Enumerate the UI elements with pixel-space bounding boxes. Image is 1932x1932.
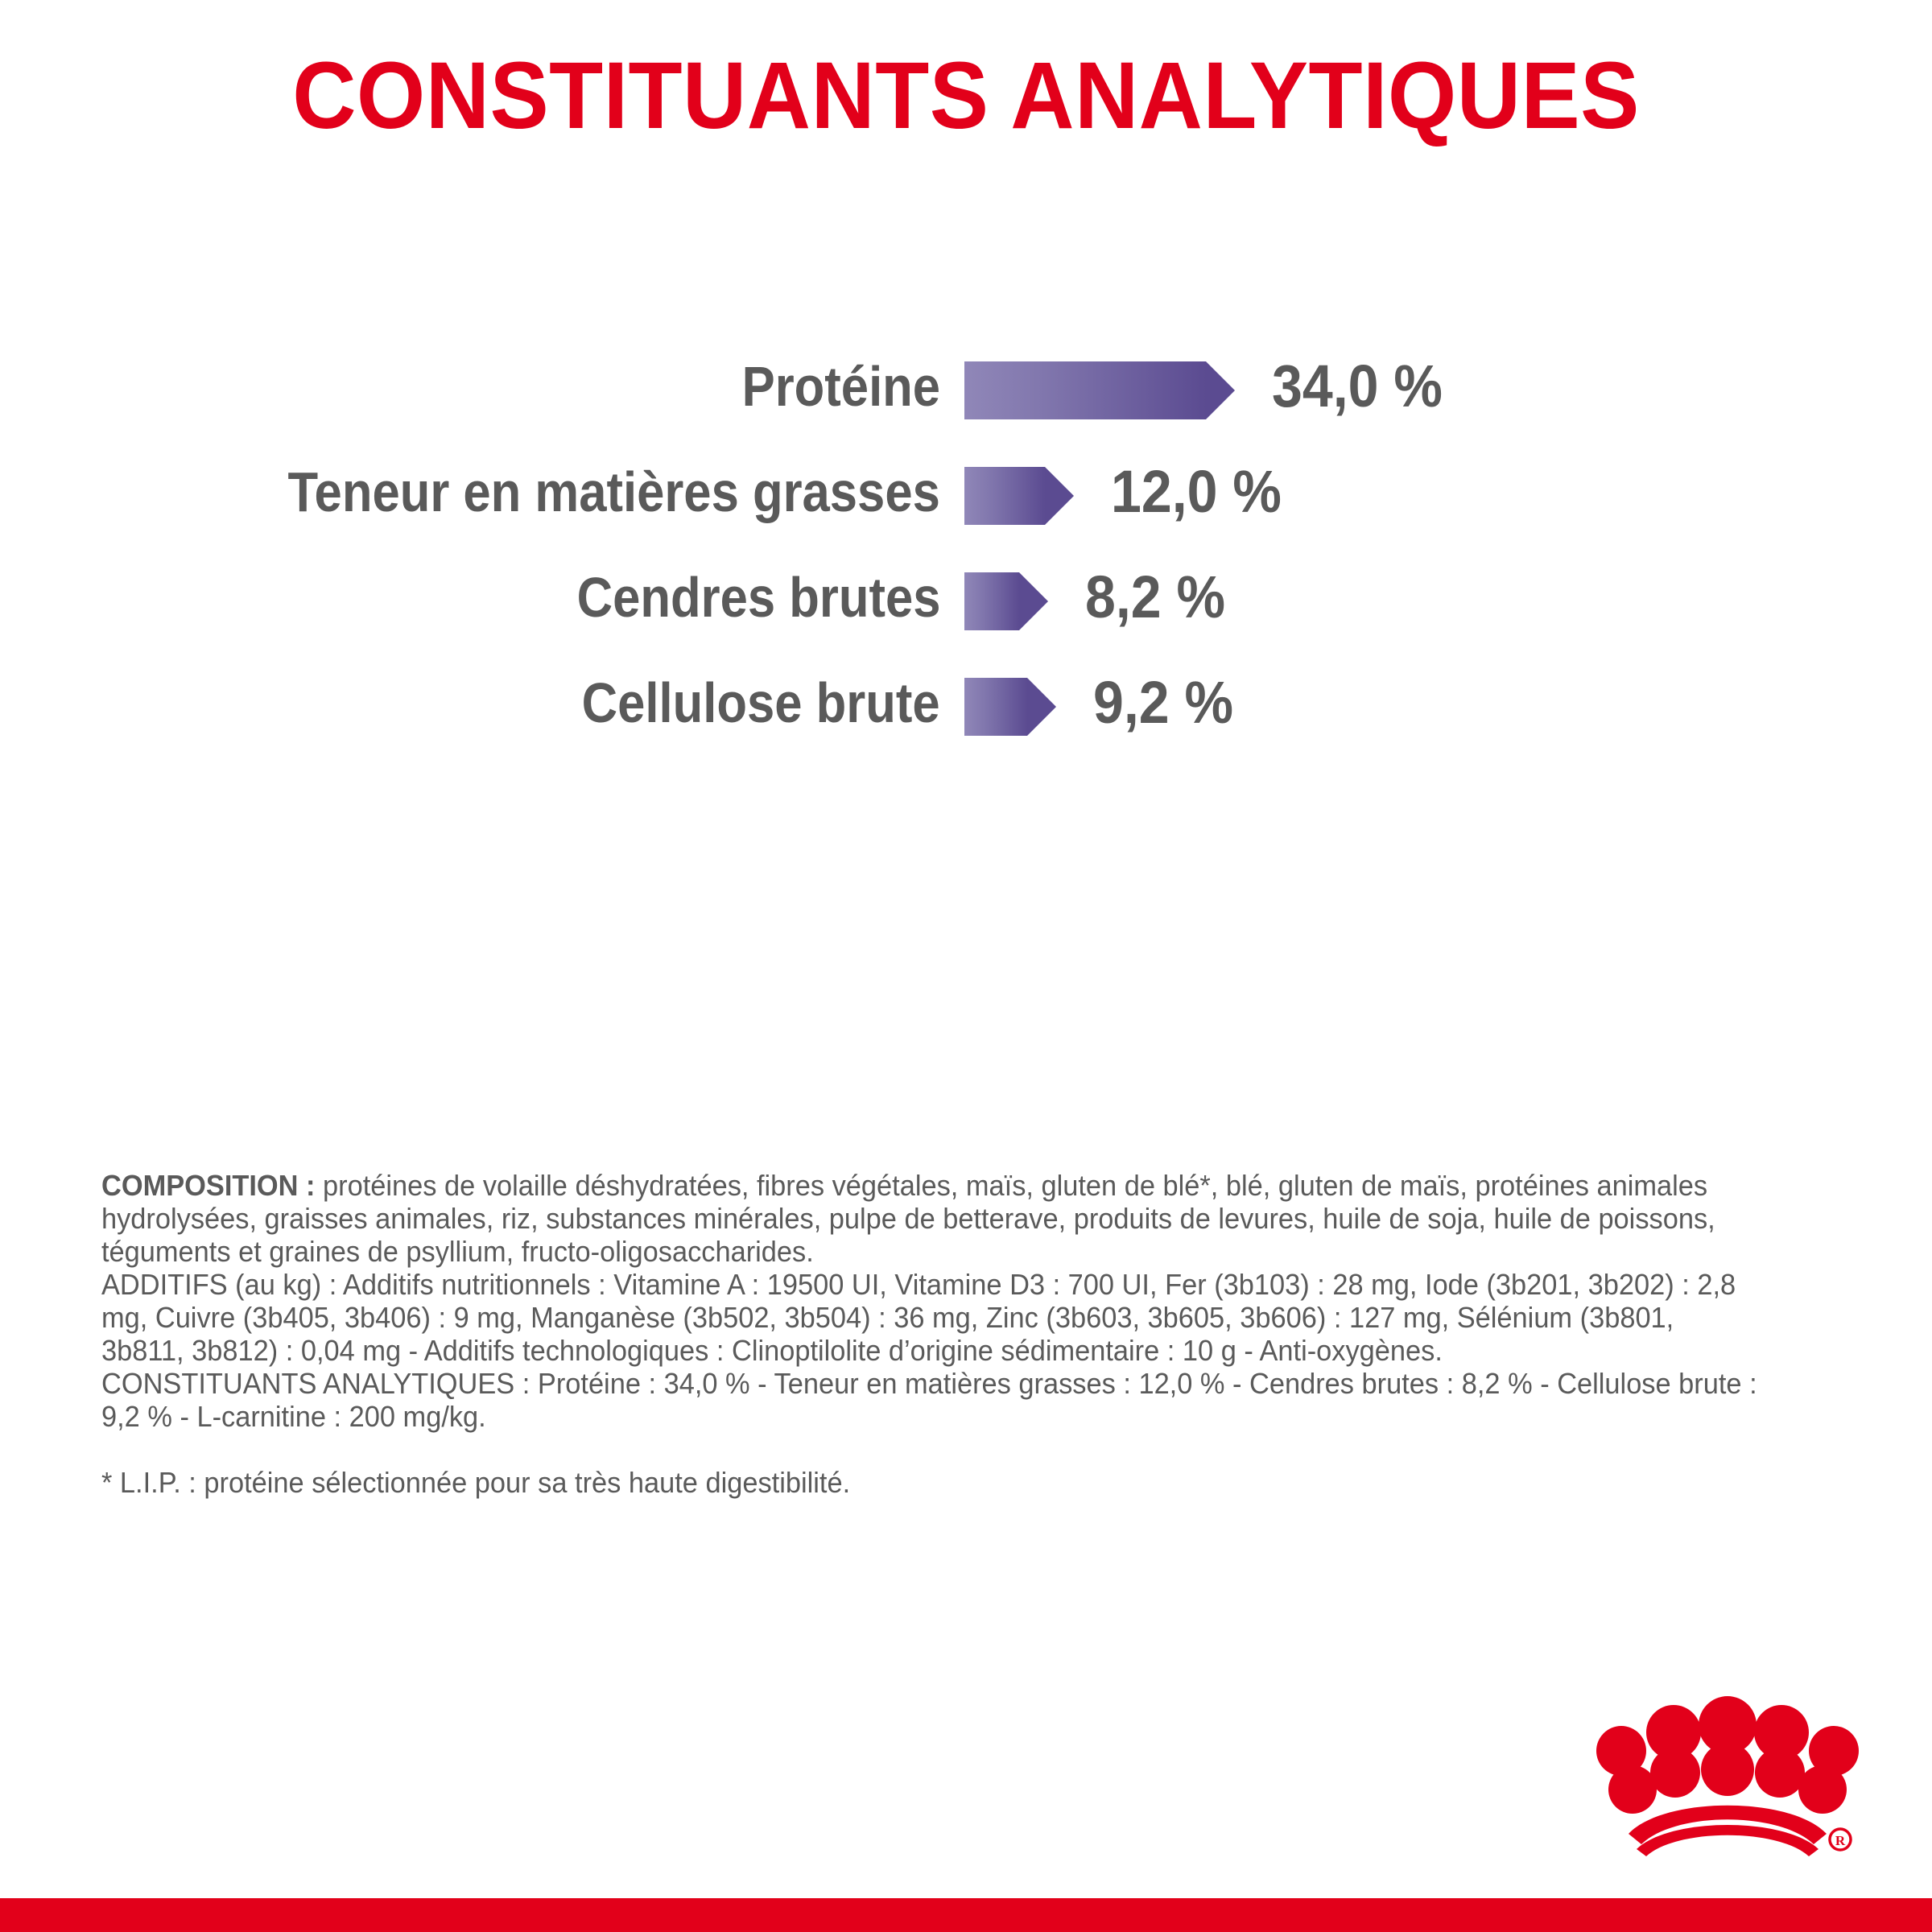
bar-arrow-tip [1045, 467, 1074, 525]
nutrient-value-matieres-grasses: 12,0 % [1111, 460, 1282, 524]
registered-mark-icon: R [1830, 1829, 1851, 1850]
nutrient-row: Protéine 34,0 % [0, 354, 1932, 460]
analytical-paragraph: CONSTITUANTS ANALYTIQUES : Protéine : 34… [101, 1367, 1762, 1433]
nutrient-value-cendres-brutes: 8,2 % [1085, 565, 1225, 630]
nutrient-bar-proteine [964, 361, 1206, 419]
bar-arrow-tip [1019, 572, 1048, 630]
nutrient-bar-cendres-brutes [964, 572, 1019, 630]
page-title: CONSTITUANTS ANALYTIQUES [68, 47, 1864, 147]
nutrient-label-cellulose-brute: Cellulose brute [582, 671, 940, 735]
bar-arrow-tip [1027, 678, 1056, 736]
composition-paragraph: COMPOSITION : protéines de volaille désh… [101, 1169, 1762, 1268]
analytical-constituents-chart: Protéine 34,0 % Teneur en matières grass… [0, 354, 1932, 776]
footer-red-band [0, 1898, 1932, 1932]
nutrient-label-proteine: Protéine [742, 354, 940, 419]
composition-label: COMPOSITION : [101, 1169, 315, 1202]
crown-icon: R [1590, 1695, 1864, 1868]
additives-paragraph: ADDITIFS (au kg) : Additifs nutritionnel… [101, 1268, 1762, 1367]
nutrient-row: Cellulose brute 9,2 % [0, 671, 1932, 776]
nutrient-label-cendres-brutes: Cendres brutes [576, 565, 940, 630]
bar-body [964, 678, 1027, 736]
nutrient-bar-matieres-grasses [964, 467, 1045, 525]
bar-arrow-tip [1206, 361, 1235, 419]
royal-canin-crown-logo: R [1590, 1695, 1864, 1868]
bar-body [964, 572, 1019, 630]
nutrient-row: Teneur en matières grasses 12,0 % [0, 460, 1932, 565]
ingredient-information: COMPOSITION : protéines de volaille désh… [101, 1169, 1762, 1499]
nutrient-bar-cellulose-brute [964, 678, 1027, 736]
paragraph-spacer [101, 1433, 1762, 1466]
nutrient-label-matieres-grasses: Teneur en matières grasses [288, 460, 940, 524]
composition-body: protéines de volaille déshydratées, fibr… [101, 1169, 1715, 1268]
nutrient-value-cellulose-brute: 9,2 % [1093, 671, 1233, 735]
svg-text:R: R [1835, 1833, 1846, 1848]
nutrient-value-proteine: 34,0 % [1272, 354, 1443, 419]
bar-body [964, 467, 1045, 525]
nutrient-row: Cendres brutes 8,2 % [0, 565, 1932, 671]
lip-footnote: * L.I.P. : protéine sélectionnée pour sa… [101, 1466, 1762, 1499]
bar-body [964, 361, 1206, 419]
